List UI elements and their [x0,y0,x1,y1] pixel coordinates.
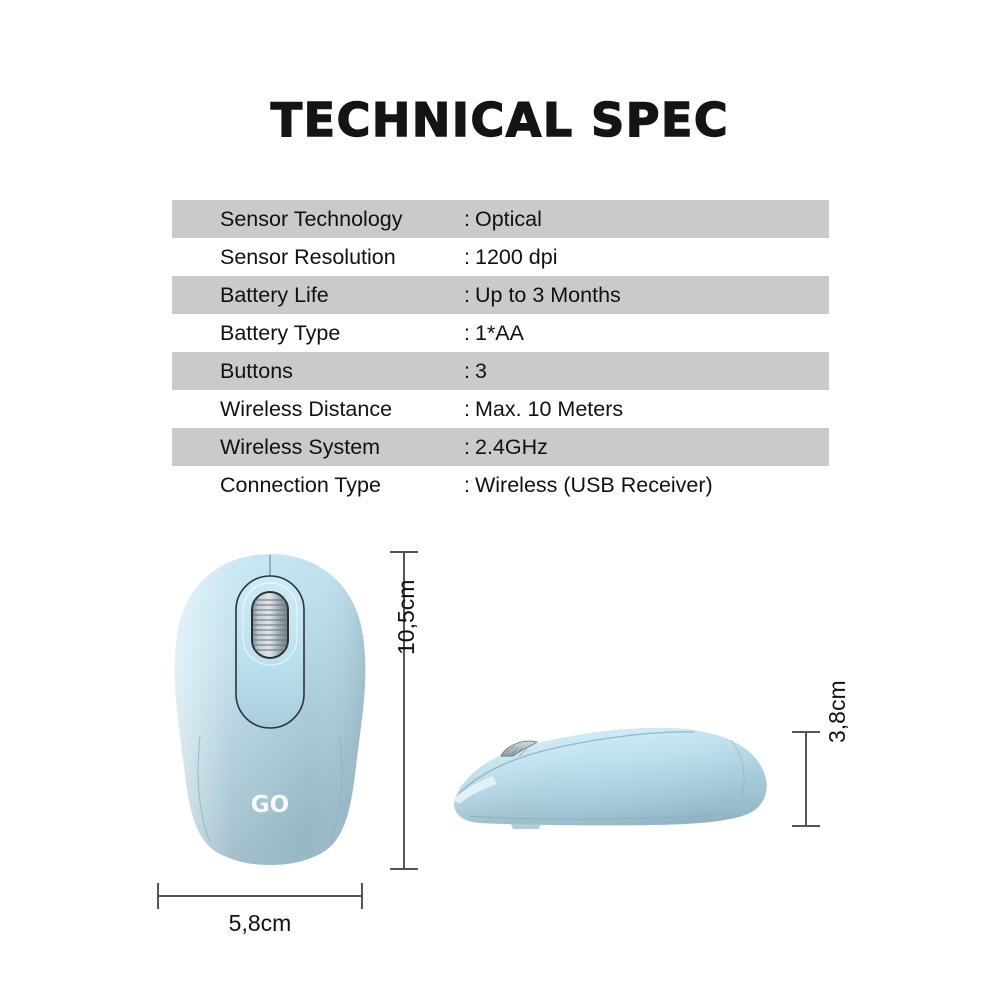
table-row: Sensor Technology :Optical [172,200,829,238]
spec-colon: : [464,283,470,307]
dimension-label-height: 10,5cm [393,580,420,655]
spec-value: :Up to 3 Months [464,283,621,308]
spec-value: :3 [464,359,487,384]
spec-colon: : [464,245,470,269]
spec-colon: : [464,321,470,345]
table-row: Battery Life :Up to 3 Months [172,276,829,314]
spec-value: :1*AA [464,321,524,346]
spec-colon: : [464,207,470,231]
spec-value-text: Up to 3 Months [475,283,621,307]
spec-label: Battery Life [172,283,464,308]
mouse-side-body-sheen [454,728,767,826]
spec-label: Sensor Resolution [172,245,464,270]
spec-label: Connection Type [172,473,464,498]
table-row: Sensor Resolution :1200 dpi [172,238,829,276]
spec-label: Buttons [172,359,464,384]
spec-value: :Optical [464,207,542,232]
spec-value-text: 3 [475,359,487,383]
spec-value: :Max. 10 Meters [464,397,623,422]
dimension-line-depth [805,731,807,826]
spec-label: Wireless System [172,435,464,460]
spec-table: Sensor Technology :Optical Sensor Resolu… [172,200,829,504]
spec-colon: : [464,435,470,459]
mouse-foot [511,824,541,829]
dimension-label-width: 5,8cm [157,910,363,937]
spec-value-text: 1200 dpi [475,245,558,269]
spec-value-text: Max. 10 Meters [475,397,623,421]
table-row: Buttons :3 [172,352,829,390]
table-row: Connection Type :Wireless (USB Receiver) [172,466,829,504]
dimension-line-width [157,895,363,897]
dimension-cap-right [361,883,363,909]
table-row: Wireless Distance :Max. 10 Meters [172,390,829,428]
product-figure: GO [0,525,1000,965]
table-row: Wireless System :2.4GHz [172,428,829,466]
spec-value-text: Wireless (USB Receiver) [475,473,713,497]
spec-label: Battery Type [172,321,464,346]
spec-colon: : [464,359,470,383]
dimension-label-depth: 3,8cm [824,680,851,743]
spec-value-text: 2.4GHz [475,435,548,459]
mouse-side-view-image [445,700,785,850]
spec-colon: : [464,473,470,497]
dimension-cap-bottom [390,868,418,870]
brand-logo: GO [251,792,289,818]
spec-value: :2.4GHz [464,435,548,460]
table-row: Battery Type :1*AA [172,314,829,352]
spec-value-text: 1*AA [475,321,524,345]
spec-label: Sensor Technology [172,207,464,232]
spec-value-text: Optical [475,207,542,231]
spec-label: Wireless Distance [172,397,464,422]
spec-colon: : [464,397,470,421]
spec-value: :Wireless (USB Receiver) [464,473,713,498]
page-title: TECHNICAL SPEC [0,93,1000,147]
spec-value: :1200 dpi [464,245,557,270]
dimension-cap-depth-bottom [792,825,820,827]
mouse-top-view-image: GO [160,550,380,870]
